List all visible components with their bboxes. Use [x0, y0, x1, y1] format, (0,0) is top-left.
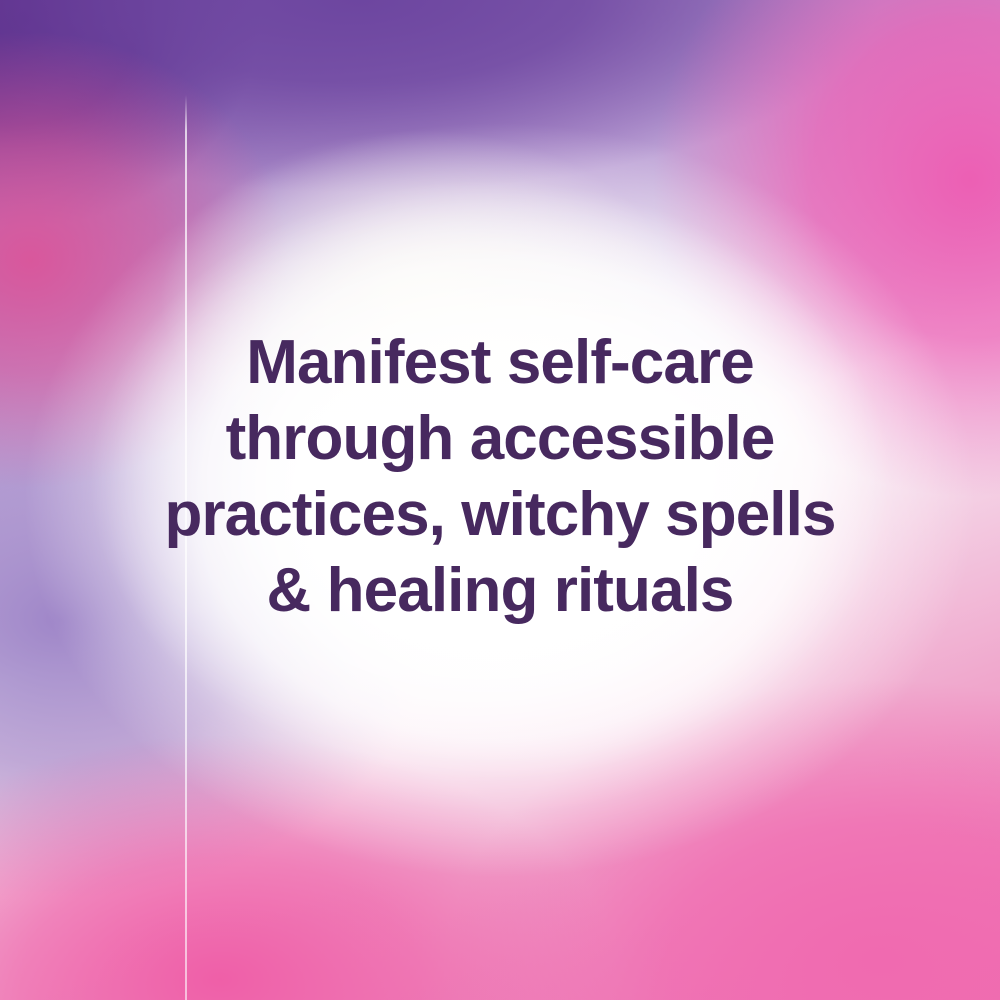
headline-block: Manifest self-care through accessible pr… — [0, 332, 1000, 636]
headline-line-1: Manifest self-care — [0, 332, 1000, 408]
headline-line-4: & healing rituals — [0, 560, 1000, 636]
poster-canvas: Manifest self-care through accessible pr… — [0, 0, 1000, 1000]
headline-line-3: practices, witchy spells — [0, 484, 1000, 560]
headline-line-2: through accessible — [0, 408, 1000, 484]
